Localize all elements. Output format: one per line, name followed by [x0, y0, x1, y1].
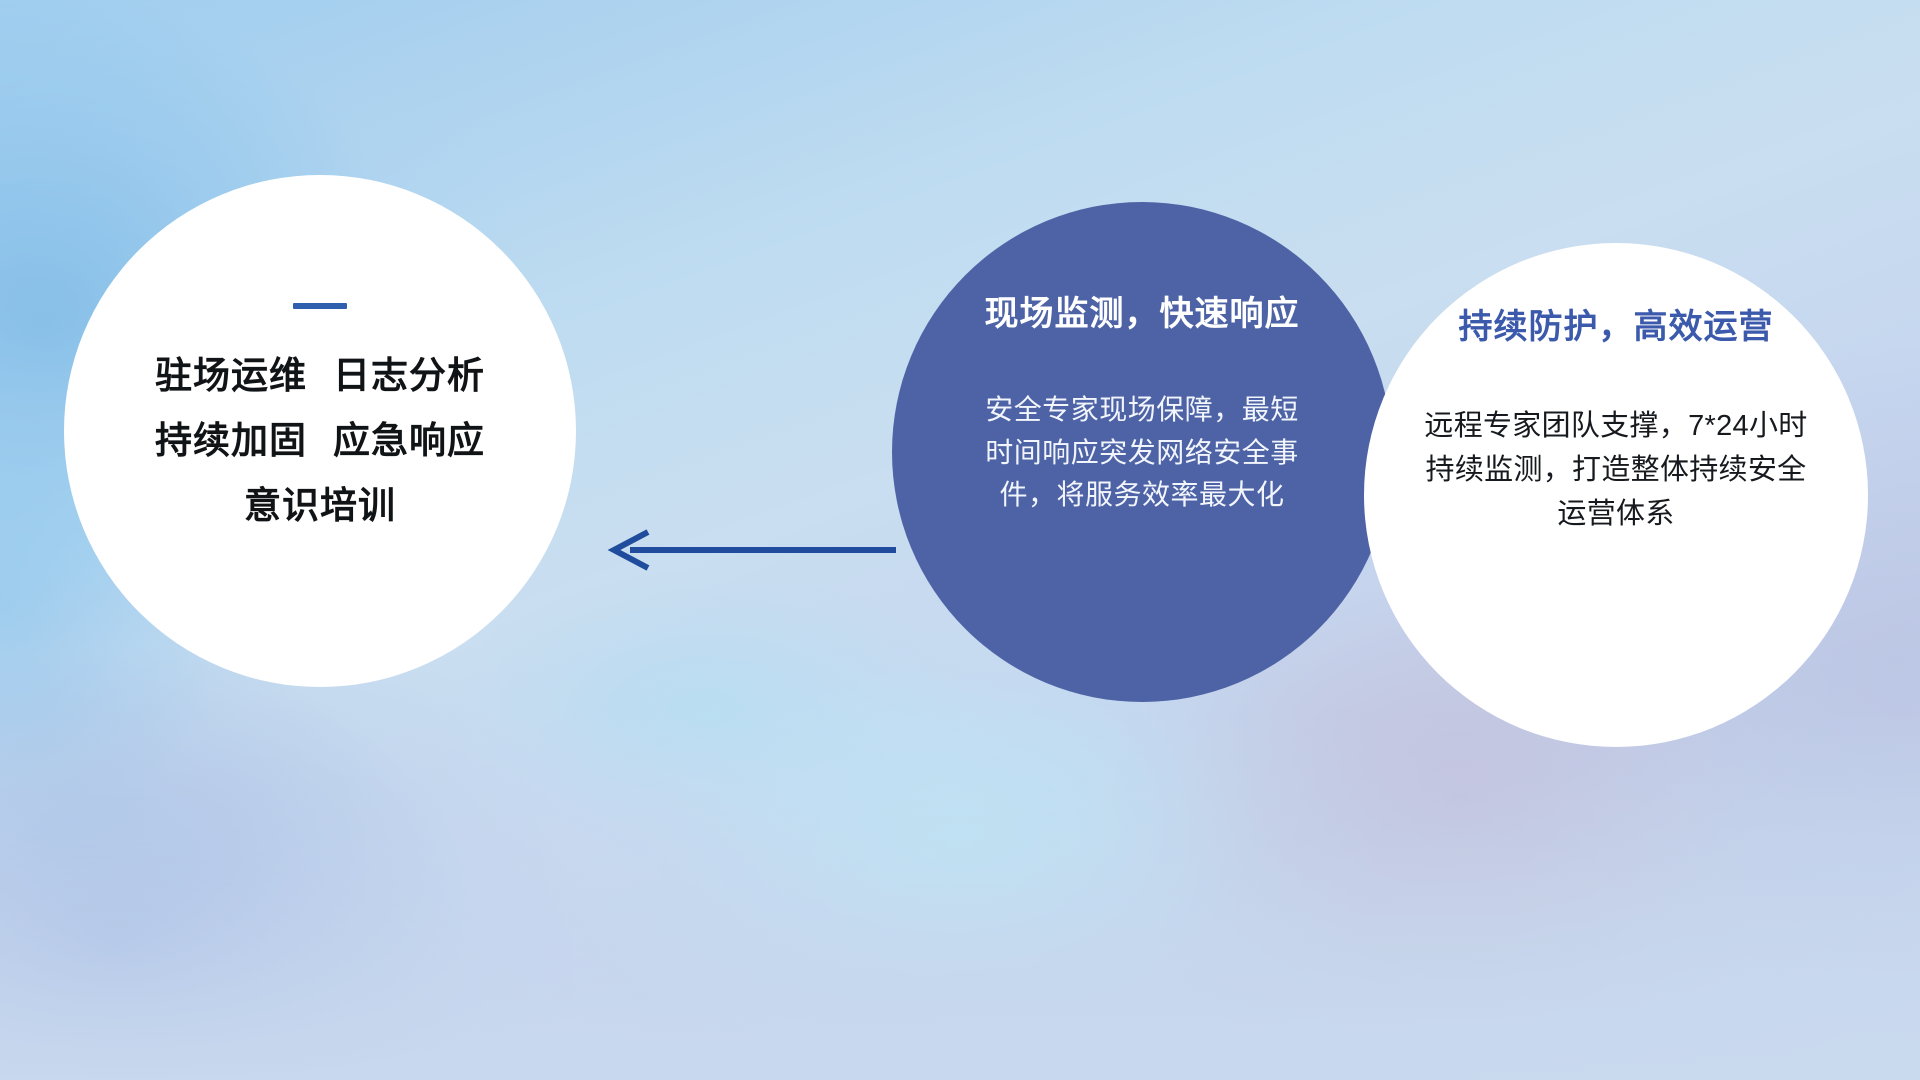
list-item: 驻场运维日志分析 [155, 357, 485, 396]
list-item: 持续加固应急响应 [155, 422, 485, 461]
tag-label: 应急响应 [333, 420, 485, 461]
dash-divider-icon [293, 303, 347, 309]
list-item: 意识培训 [244, 487, 396, 526]
onsite-monitoring-circle: 现场监测，快速响应 安全专家现场保障，最短时间响应突发网络安全事件，将服务效率最… [892, 202, 1392, 702]
continuous-protection-title: 持续防护，高效运营 [1459, 299, 1774, 348]
tag-label: 日志分析 [333, 355, 485, 396]
continuous-protection-circle: 持续防护，高效运营 远程专家团队支撑，7*24小时持续监测，打造整体持续安全运营… [1364, 243, 1868, 747]
capability-tags-circle: 驻场运维日志分析 持续加固应急响应 意识培训 [64, 175, 576, 687]
capability-tag-list: 驻场运维日志分析 持续加固应急响应 意识培训 [155, 357, 485, 526]
onsite-monitoring-title: 现场监测，快速响应 [985, 286, 1300, 335]
slide-canvas: 驻场运维日志分析 持续加固应急响应 意识培训 现场监测，快速响应 安全专家现场保… [0, 0, 1920, 1080]
flow-arrow-left-icon [600, 520, 900, 580]
tag-label: 持续加固 [155, 420, 307, 461]
continuous-protection-body: 远程专家团队支撑，7*24小时持续监测，打造整体持续安全运营体系 [1419, 404, 1813, 536]
tag-label: 意识培训 [244, 485, 396, 526]
onsite-monitoring-body: 安全专家现场保障，最短时间响应突发网络安全事件，将服务效率最大化 [985, 389, 1299, 517]
tag-label: 驻场运维 [155, 355, 307, 396]
